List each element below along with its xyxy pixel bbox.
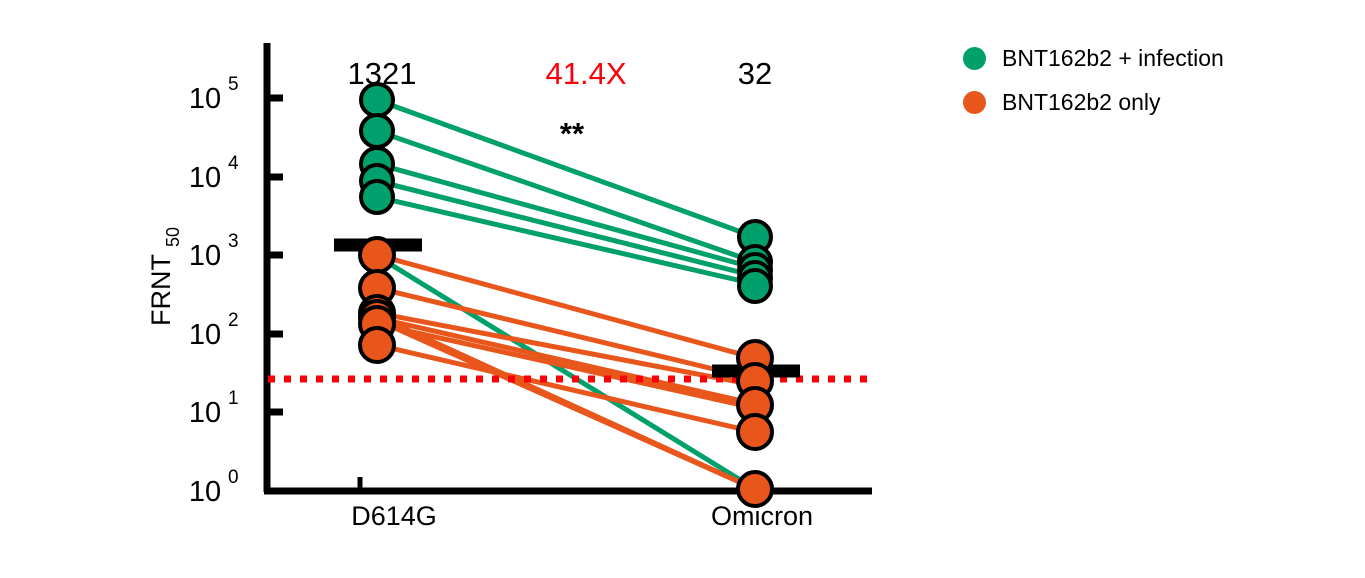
y-tick-label-mantissa-1e2: 10 <box>189 319 221 351</box>
connector-line <box>377 345 755 432</box>
data-point[interactable] <box>360 238 394 272</box>
y-tick-label-mantissa-1e3: 10 <box>189 240 221 272</box>
data-point[interactable] <box>739 270 771 302</box>
points-omicron-infection <box>739 221 771 302</box>
data-point[interactable] <box>361 181 393 213</box>
significance-label: ** <box>560 116 585 151</box>
figure-panel: 10 5 10 4 10 3 10 2 10 1 10 0 FRNT 50 D6… <box>0 0 1365 573</box>
data-point[interactable] <box>738 472 772 506</box>
y-tick-label-mantissa-1e1: 10 <box>189 397 221 429</box>
points-d614g-only <box>360 238 394 362</box>
data-point[interactable] <box>360 328 394 362</box>
y-axis-title: FRNT 50 <box>146 227 183 326</box>
annotations: 1321 41.4X 32 ** <box>348 56 773 151</box>
y-tick-label-exponent-1e3: 3 <box>228 231 239 252</box>
connector-lines-infection <box>377 100 755 489</box>
y-tick-label-exponent-1e0: 0 <box>228 467 239 488</box>
y-tick-labels: 10 5 10 4 10 3 10 2 10 1 10 0 <box>189 74 239 508</box>
legend-label-infection: BNT162b2 + infection <box>1002 45 1224 72</box>
axes <box>264 43 872 492</box>
median-d614g-label: 1321 <box>348 56 417 91</box>
median-omicron-label: 32 <box>738 56 772 91</box>
y-tick-label-exponent-1e1: 1 <box>228 388 239 409</box>
legend-item-only[interactable]: BNT162b2 only <box>963 80 1293 124</box>
legend-item-infection[interactable]: BNT162b2 + infection <box>963 36 1293 80</box>
y-tick-label-exponent-1e2: 2 <box>228 310 239 331</box>
data-point[interactable] <box>361 115 393 147</box>
legend-label-only: BNT162b2 only <box>1002 89 1161 116</box>
legend-swatch-icon-only <box>963 91 986 114</box>
legend: BNT162b2 + infection BNT162b2 only <box>963 36 1293 124</box>
points-omicron-only <box>738 341 772 506</box>
fold-change-label: 41.4X <box>545 56 626 91</box>
x-tick-labels: D614G Omicron <box>351 501 813 531</box>
legend-swatch-icon-infection <box>963 47 986 70</box>
x-tick-label-d614g: D614G <box>351 501 437 531</box>
y-tick-label-mantissa-1e0: 10 <box>189 476 221 508</box>
connector-line <box>377 320 755 489</box>
connector-line <box>377 318 755 404</box>
y-axis-title-subscript: 50 <box>163 227 183 247</box>
data-point[interactable] <box>738 415 772 449</box>
y-axis-title-text: FRNT <box>146 254 176 326</box>
y-tick-label-mantissa-1e5: 10 <box>189 83 221 115</box>
y-tick-label-exponent-1e5: 5 <box>228 74 239 95</box>
y-tick-label-mantissa-1e4: 10 <box>189 162 221 194</box>
y-tick-label-exponent-1e4: 4 <box>228 153 239 174</box>
